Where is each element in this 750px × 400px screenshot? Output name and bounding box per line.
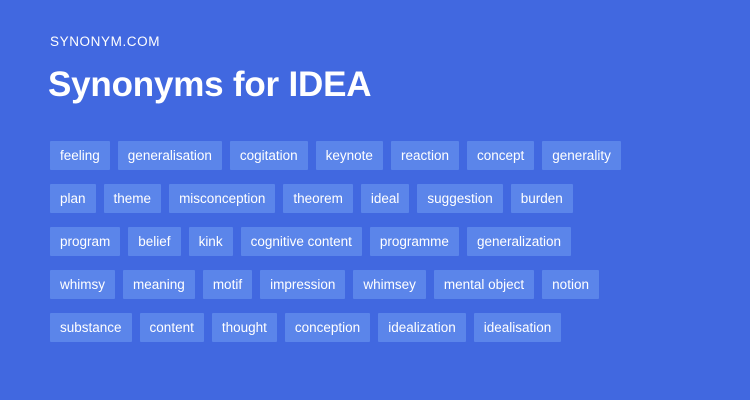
synonym-card: SYNONYM.COM Synonyms for IDEA feelinggen…: [0, 0, 750, 400]
site-brand: SYNONYM.COM: [50, 34, 160, 50]
synonym-tag[interactable]: plan: [50, 184, 96, 213]
synonym-tag[interactable]: reaction: [391, 141, 459, 170]
synonym-tag[interactable]: substance: [50, 313, 132, 342]
synonym-tag[interactable]: keynote: [316, 141, 383, 170]
synonym-tag[interactable]: feeling: [50, 141, 110, 170]
synonym-tag[interactable]: generalisation: [118, 141, 222, 170]
synonym-tag[interactable]: theme: [104, 184, 162, 213]
synonym-tag[interactable]: meaning: [123, 270, 195, 299]
synonym-tag[interactable]: motif: [203, 270, 252, 299]
synonym-tag[interactable]: conception: [285, 313, 370, 342]
synonym-row: programbeliefkinkcognitive contentprogra…: [50, 227, 710, 256]
synonym-tag[interactable]: generality: [542, 141, 621, 170]
synonym-tag[interactable]: suggestion: [417, 184, 502, 213]
synonym-tag[interactable]: content: [140, 313, 204, 342]
synonym-tag[interactable]: thought: [212, 313, 277, 342]
synonym-row: whimsymeaningmotifimpressionwhimseymenta…: [50, 270, 710, 299]
page-title: Synonyms for IDEA: [48, 64, 371, 106]
synonym-tag[interactable]: program: [50, 227, 120, 256]
synonym-tag[interactable]: cogitation: [230, 141, 308, 170]
synonym-tag[interactable]: generalization: [467, 227, 571, 256]
synonym-tag[interactable]: whimsey: [353, 270, 426, 299]
synonym-row: planthememisconceptiontheoremidealsugges…: [50, 184, 710, 213]
synonym-tag[interactable]: whimsy: [50, 270, 115, 299]
synonym-tag[interactable]: ideal: [361, 184, 410, 213]
synonym-tag[interactable]: mental object: [434, 270, 534, 299]
synonym-tag[interactable]: impression: [260, 270, 345, 299]
synonym-tag-list: feelinggeneralisationcogitationkeynotere…: [50, 141, 710, 342]
synonym-tag[interactable]: misconception: [169, 184, 275, 213]
synonym-tag[interactable]: kink: [189, 227, 233, 256]
synonym-tag[interactable]: idealization: [378, 313, 466, 342]
synonym-tag[interactable]: burden: [511, 184, 573, 213]
synonym-tag[interactable]: concept: [467, 141, 534, 170]
synonym-tag[interactable]: idealisation: [474, 313, 562, 342]
synonym-tag[interactable]: programme: [370, 227, 459, 256]
synonym-tag[interactable]: belief: [128, 227, 180, 256]
synonym-tag[interactable]: cognitive content: [241, 227, 362, 256]
synonym-tag[interactable]: notion: [542, 270, 599, 299]
synonym-row: feelinggeneralisationcogitationkeynotere…: [50, 141, 710, 170]
synonym-row: substancecontentthoughtconceptionidealiz…: [50, 313, 710, 342]
synonym-tag[interactable]: theorem: [283, 184, 353, 213]
